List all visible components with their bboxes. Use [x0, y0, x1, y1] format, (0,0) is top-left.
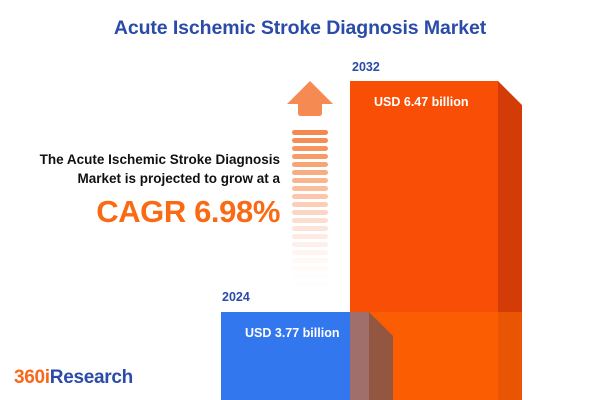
- arrow-up-head-icon: [286, 80, 334, 128]
- bar-2032-side-face: [498, 81, 522, 400]
- cagr-value: CAGR 6.98%: [20, 194, 280, 230]
- arrow-rung-stack: [292, 130, 328, 290]
- year-label-2024: 2024: [222, 290, 250, 304]
- brand-logo: 360iResearch: [14, 367, 133, 389]
- year-label-2032: 2032: [352, 60, 380, 74]
- page-title: Acute Ischemic Stroke Diagnosis Market: [0, 17, 600, 40]
- growth-arrow-icon: [286, 80, 334, 295]
- brand-logo-research: Research: [50, 367, 133, 388]
- growth-statement-text: The Acute Ischemic Stroke Diagnosis Mark…: [20, 150, 280, 188]
- growth-statement: The Acute Ischemic Stroke Diagnosis Mark…: [20, 150, 280, 230]
- value-label-2032: USD 6.47 billion: [374, 95, 468, 109]
- brand-logo-360i: 360i: [14, 367, 50, 388]
- infographic-canvas: Acute Ischemic Stroke Diagnosis Market: [0, 0, 600, 400]
- value-label-2024: USD 3.77 billion: [245, 326, 339, 340]
